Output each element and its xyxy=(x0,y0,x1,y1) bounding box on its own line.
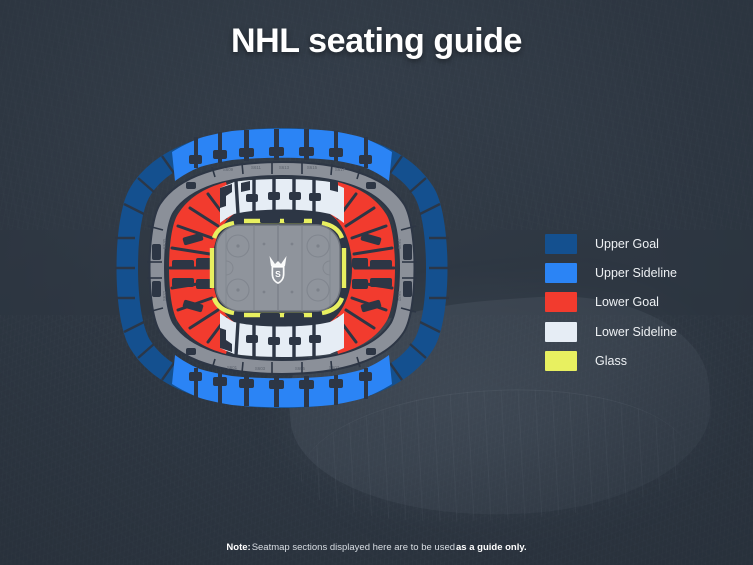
footer-note-label: Note: xyxy=(226,542,250,553)
legend-label-lower-sideline: Lower Sideline xyxy=(595,325,677,339)
legend-swatch-lower-sideline xyxy=(545,322,577,342)
svg-text:S630: S630 xyxy=(397,239,402,250)
legend-item-upper-sideline[interactable]: Upper Sideline xyxy=(545,258,735,287)
svg-text:S605: S605 xyxy=(295,366,306,371)
legend-label-upper-goal: Upper Goal xyxy=(595,237,659,251)
svg-text:S613: S613 xyxy=(279,165,290,170)
legend-swatch-upper-goal xyxy=(545,234,577,254)
svg-text:S611: S611 xyxy=(251,165,261,170)
legend-item-glass[interactable]: Glass xyxy=(545,347,735,376)
legend-label-lower-goal: Lower Goal xyxy=(595,295,659,309)
svg-text:S620: S620 xyxy=(162,238,167,249)
footer-note-text: Seatmap sections displayed here are to b… xyxy=(252,542,455,553)
legend-swatch-lower-goal xyxy=(545,292,577,312)
svg-text:S615: S615 xyxy=(307,165,318,170)
legend-swatch-upper-sideline xyxy=(545,263,577,283)
page-title: NHL seating guide xyxy=(0,22,753,61)
legend: Upper Goal Upper Sideline Lower Goal Low… xyxy=(545,229,735,376)
legend-label-glass: Glass xyxy=(595,354,627,368)
legend-item-upper-goal[interactable]: Upper Goal xyxy=(545,229,735,258)
screenshot-stage: NHL seating guide xyxy=(0,0,753,565)
footer-note: Note:Seatmap sections displayed here are… xyxy=(0,542,753,553)
footer-note-emphasis: as a guide only. xyxy=(456,542,527,553)
legend-label-upper-sideline: Upper Sideline xyxy=(595,266,677,280)
svg-text:S603: S603 xyxy=(255,366,266,371)
svg-text:S609: S609 xyxy=(223,167,234,172)
svg-text:S622: S622 xyxy=(162,290,167,301)
legend-item-lower-sideline[interactable]: Lower Sideline xyxy=(545,317,735,346)
arena-seatmap[interactable]: S609 S611 S613 S615 S617 S601 S603 S605 … xyxy=(108,126,456,410)
svg-text:S: S xyxy=(275,269,281,279)
legend-swatch-glass xyxy=(545,351,577,371)
svg-text:S601: S601 xyxy=(227,365,238,370)
svg-text:S632: S632 xyxy=(397,291,402,302)
svg-text:S617: S617 xyxy=(335,167,346,172)
svg-text:S607: S607 xyxy=(329,365,340,370)
legend-item-lower-goal[interactable]: Lower Goal xyxy=(545,288,735,317)
seatmap-svg: S609 S611 S613 S615 S617 S601 S603 S605 … xyxy=(108,126,456,410)
